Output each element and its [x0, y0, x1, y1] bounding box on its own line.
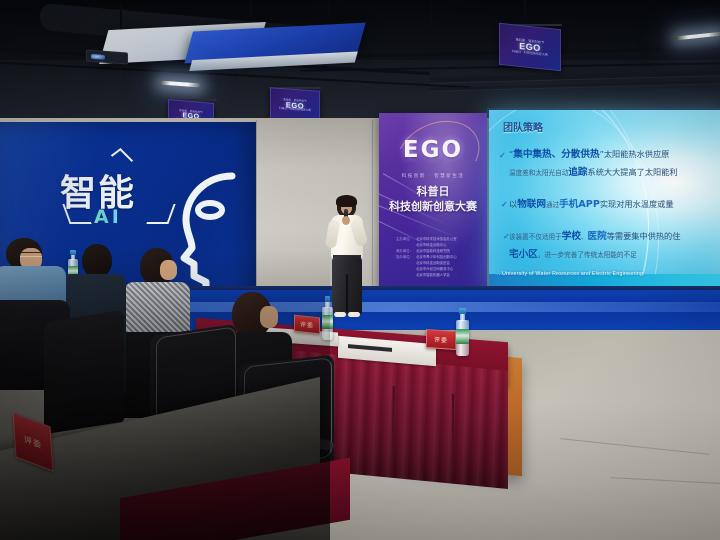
projection-screen[interactable]: 团队策略 ✓ “集中集热、分散供热”太阳能热水供应原 温度差和太阳光自动追踪系统…	[489, 110, 720, 290]
bullet-post: ，进一步完善了传统太阳能的不足	[538, 251, 637, 259]
bullet-highlight: 追踪	[568, 167, 587, 178]
hanging-banner-3[interactable]: 第四届 · 智能科技节 EGO 科普日 · 科技创新创意大赛	[499, 23, 561, 72]
ceiling-grid-right	[430, 80, 720, 91]
projector-lens-icon	[91, 53, 105, 59]
bottle-label	[322, 315, 333, 329]
slide-bullet-2: 温度差和太阳光自动追踪系统大大提高了太阳能利	[509, 166, 720, 180]
presenter-shoe-right	[348, 312, 360, 317]
judge-face	[260, 306, 278, 328]
bullet-post: ”太阳能热水供应	[600, 149, 662, 159]
ai-wall-logo: 智能 AI	[50, 144, 186, 232]
slide-bullet-1: “集中集热、分散供热”太阳能热水供应原	[509, 148, 720, 162]
sponsor-value: 北京市智能机器人学会	[416, 273, 450, 279]
water-bottle-1[interactable]	[322, 296, 333, 340]
ceiling-hanger-3	[524, 0, 526, 24]
sponsor-row: 北京市智能机器人学会	[393, 273, 477, 279]
bullet-tail: 住	[672, 231, 680, 241]
banner-sub-line: 科普日 · 科技创新创意大赛	[512, 50, 548, 57]
bullet-tail: 原	[661, 149, 669, 159]
slide-bullet-5: 宅小区，进一步完善了传统太阳能的不足	[509, 248, 720, 262]
bullet-highlight: 物联网	[517, 199, 546, 210]
slide-title: 团队策略	[503, 119, 543, 134]
presenter-leg-split	[346, 274, 348, 312]
presenter-shoe-left	[334, 312, 346, 317]
bullet-post: 系统大大提高了太阳能利	[588, 167, 678, 177]
ceiling-hanger-2	[430, 2, 432, 26]
bullet-pre: 以	[509, 199, 517, 209]
judge-head	[82, 244, 112, 278]
slide-bullet-3: 以物联网通过手机APP实现对用水温度或量	[509, 198, 720, 212]
bottle-cap	[325, 296, 331, 302]
bracket-right-icon	[146, 204, 175, 224]
wall-seam-1	[256, 120, 257, 300]
ego-logo-text: EGO	[379, 137, 487, 163]
slide-bullet-4: 该装置不仅适用于学校、医院等需要集中供热的住	[509, 230, 720, 244]
water-bottle-2[interactable]	[456, 308, 469, 356]
ai-logo-english: AI	[94, 206, 122, 228]
name-card-3[interactable]: 评委	[426, 329, 456, 350]
slide-bullet-check-1: ✓	[499, 151, 506, 160]
bottle-cap	[459, 308, 466, 314]
bullet-post: 实现对用水温度或	[600, 199, 666, 209]
tube-light-center	[160, 81, 200, 88]
bullet-pre: 该装置不仅适用于	[509, 233, 562, 241]
bullet-pre: 温度差和太阳光自动	[509, 169, 568, 177]
bullet-highlight-2: 医院	[588, 231, 607, 242]
bullet-mid: 、	[581, 233, 588, 241]
slide-footer-text: ...University of Water Resources and Ele…	[497, 271, 645, 277]
bottle-label	[456, 329, 469, 344]
photo-scene: 第四届 · 智能科技节 EGO 科普日 · 科技创新创意大赛 第四届 · 智能科…	[0, 0, 720, 540]
standee-sponsor-list: 主办单位： 北京市科学技术协会办公室 北京市科技创新中心 承办单位： 北京市智能…	[393, 237, 477, 279]
bottle-neck	[460, 313, 465, 321]
bullet-mid: 通过	[546, 201, 559, 209]
chair-3	[44, 310, 124, 435]
ceiling-projector	[86, 50, 128, 65]
sponsor-key	[393, 273, 413, 279]
standee-title-line1: 科普日	[417, 185, 450, 198]
bullet-highlight: 学校	[562, 231, 581, 242]
standee-title-line2: 科技创新创意大赛	[389, 200, 477, 213]
bullet-pre: 宅小区	[509, 249, 538, 260]
presenter-hand	[342, 216, 350, 225]
name-card-2[interactable]: 评委	[294, 315, 320, 335]
glasses-icon	[20, 252, 42, 257]
presenter-hair	[336, 195, 357, 207]
table-fold-4	[452, 394, 454, 470]
ego-standing-banner[interactable]: EGO 科技创新 · 智慧新生活 科普日 科技创新创意大赛 主办单位： 北京市科…	[379, 113, 487, 305]
standee-title: 科普日 科技创新创意大赛	[379, 185, 487, 215]
slide-bullet-check-2: ✓	[501, 200, 508, 209]
banner-sub-line: 科普日 · 科技创新创意大赛	[279, 108, 311, 113]
standee-tagline: 科技创新 · 智慧新生活	[379, 173, 487, 179]
bottle-neck	[325, 301, 329, 308]
bullet-tail: 量	[665, 199, 673, 209]
bullet-highlight-2: 手机APP	[559, 199, 600, 210]
judge-face	[160, 260, 177, 280]
bullet-post: 等需要集中供热的	[607, 231, 673, 241]
wall-seam-2	[372, 120, 373, 300]
ceiling-wire-1	[120, 4, 122, 30]
bullet-highlight: 集中集热、分散供热	[513, 149, 599, 160]
judge-body	[124, 282, 190, 336]
floor-crack-2	[610, 477, 720, 484]
floor-crack-1	[560, 438, 709, 455]
